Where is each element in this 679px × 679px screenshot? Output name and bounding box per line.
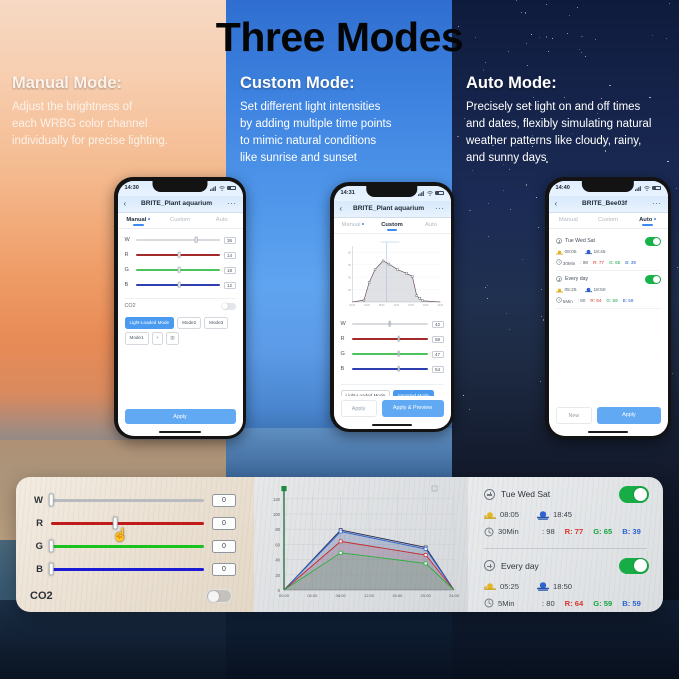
data-point[interactable]: [424, 562, 427, 565]
slider-value[interactable]: 0: [212, 540, 236, 553]
sunset-icon: [537, 510, 549, 520]
slider-track[interactable]: [136, 269, 220, 271]
more-icon[interactable]: ···: [652, 199, 662, 208]
apply-button[interactable]: Apply: [597, 407, 660, 424]
column-line: Precisely set light on and off times: [466, 99, 679, 116]
value-g: G: 59: [606, 298, 617, 303]
slider-track[interactable]: [352, 353, 428, 355]
add-circle-icon[interactable]: [556, 238, 563, 245]
tab-label: Auto: [639, 217, 652, 223]
schedule-days: Every day: [501, 561, 539, 571]
slider-row-b[interactable]: B 54: [341, 362, 444, 377]
status-icons: [418, 191, 444, 196]
tab-label: Custom: [170, 217, 190, 223]
notch: [582, 181, 634, 192]
star: [527, 65, 528, 66]
nav-bar: ‹ BRITE_Plant aquarium ···: [118, 196, 243, 213]
panel-co2-row[interactable]: CO2: [30, 589, 236, 603]
slider-knob[interactable]: [49, 563, 54, 576]
y-tick-label: 40: [275, 558, 280, 563]
value-w: : 80: [578, 298, 586, 303]
phone2-footer: Apply Apply & Preview: [334, 396, 451, 424]
co2-toggle[interactable]: [222, 303, 236, 311]
new-button[interactable]: New: [556, 407, 593, 424]
value-r: R: 64: [565, 599, 584, 608]
mode-chip[interactable]: Mode2: [177, 317, 201, 329]
value-w: : 80: [542, 599, 555, 608]
star: [483, 69, 484, 70]
x-tick-label: 04:00: [307, 593, 318, 598]
tab-dot-icon: [654, 218, 656, 220]
tab-custom[interactable]: Custom: [588, 217, 628, 226]
phone3-footer: New Apply: [549, 403, 668, 431]
ramp-duration: 30Min: [498, 527, 519, 536]
schedule-times: 05:25 18:50: [556, 287, 661, 293]
signal-icon: [210, 186, 217, 191]
tab-label: Manual: [126, 217, 146, 223]
panel-slider-row-b[interactable]: B 0: [30, 558, 236, 581]
more-icon[interactable]: ···: [227, 199, 237, 208]
sunrise-time-wrap: 08:05: [556, 249, 577, 255]
sunset-icon: [585, 249, 592, 255]
star: [464, 118, 465, 119]
column-line: by adding multiple time points: [240, 116, 455, 133]
ramp-wrap: 5Min: [556, 297, 573, 304]
schedule-days: Tue Wed Sat: [565, 238, 595, 244]
mode-chip[interactable]: Mode3: [204, 317, 228, 329]
value-b: B: 39: [622, 527, 641, 536]
star: [540, 381, 541, 382]
star: [538, 227, 539, 228]
battery-icon: [652, 186, 661, 191]
star: [469, 409, 470, 410]
ramp-wrap: 30Min: [484, 527, 532, 537]
x-tick-label: 24:00: [449, 593, 460, 598]
column-line: individually for precise lighting.: [12, 133, 222, 150]
star: [503, 190, 504, 191]
sunrise-time: 05:25: [565, 288, 577, 293]
sunset-icon: [537, 581, 549, 591]
mode-chip[interactable]: Light-Loaded Mode: [125, 317, 175, 329]
add-circle-icon[interactable]: [484, 489, 495, 500]
sunset-time-wrap: 18:50: [537, 581, 572, 591]
star: [577, 7, 578, 8]
add-circle-icon[interactable]: [484, 560, 495, 571]
mode-tabs: Manual Custom Auto: [549, 213, 668, 229]
add-circle-icon[interactable]: [556, 276, 563, 283]
column-line: to mimic natural conditions: [240, 133, 455, 150]
slider-label: B: [30, 564, 43, 575]
x-tick-label: 20:00: [421, 593, 432, 598]
x-tick-label: 08:00: [336, 593, 347, 598]
battery-icon: [227, 186, 236, 191]
schedule-values: 30Min : 98 R: 77 G: 65 B: 39: [484, 527, 649, 537]
tab-dot-icon: [362, 223, 364, 225]
schedule-days-wrap: Tue Wed Sat: [556, 238, 596, 245]
slider-value[interactable]: 18: [224, 267, 236, 274]
slider-knob[interactable]: [397, 336, 400, 342]
status-time: 14:30: [125, 185, 139, 191]
slider-knob[interactable]: [178, 267, 181, 273]
slider-track[interactable]: [136, 284, 220, 286]
slider-label: G: [125, 267, 132, 273]
star: [677, 267, 678, 268]
slider-row-w[interactable]: W 42: [341, 317, 444, 332]
sunrise-time: 05:25: [500, 582, 519, 591]
data-point[interactable]: [411, 275, 413, 277]
status-icons: [210, 186, 236, 191]
device-title: BRITE_Bee03f: [561, 200, 648, 207]
tab-manual[interactable]: Manual: [549, 217, 589, 226]
wifi-icon: [644, 186, 650, 191]
slider-knob[interactable]: [49, 540, 54, 553]
value-w: : 98: [580, 260, 588, 265]
tab-auto[interactable]: Auto: [201, 217, 243, 226]
sunrise-time-wrap: 05:25: [484, 581, 519, 591]
nav-bar: ‹ BRITE_Plant aquarium ···: [334, 201, 451, 218]
sunset-time-wrap: 18:50: [585, 287, 606, 293]
slider-value[interactable]: 54: [432, 366, 444, 373]
star: [521, 12, 522, 13]
battery-icon: [435, 191, 444, 196]
star: [469, 210, 470, 211]
star: [541, 289, 542, 290]
tab-label: Custom: [598, 217, 618, 223]
sunset-time-wrap: 18:45: [537, 510, 572, 520]
column-line: and sunny days: [466, 150, 679, 167]
slider-track[interactable]: [51, 499, 204, 501]
x-tick-label: 12:00: [393, 304, 399, 306]
slider-track[interactable]: [352, 338, 428, 340]
co2-row[interactable]: CO2: [125, 298, 236, 311]
value-g: G: 65: [609, 260, 620, 265]
x-tick-label: 24:00: [437, 304, 443, 306]
schedule-toggle[interactable]: [619, 558, 649, 575]
x-tick-label: 00:00: [279, 593, 290, 598]
value-b: B: 39: [625, 260, 636, 265]
tab-custom[interactable]: Custom: [159, 217, 201, 226]
more-icon[interactable]: ···: [435, 204, 445, 213]
panel-sliders: W 0 R 0 ☝ G 0 B 0 CO2: [16, 477, 254, 612]
slider-track[interactable]: [51, 545, 204, 547]
y-tick-label: 100: [273, 512, 281, 517]
star: [485, 287, 486, 288]
data-point[interactable]: [382, 259, 384, 261]
value-b: B: 59: [623, 298, 634, 303]
slider-row-g[interactable]: G 18: [125, 263, 236, 278]
slider-label: W: [125, 237, 132, 243]
slider-label: G: [30, 541, 43, 552]
star: [472, 170, 473, 171]
y-tick-label: 80: [275, 527, 280, 532]
star: [509, 169, 510, 170]
schedule-times: 08:05 18:45: [484, 510, 649, 520]
data-point[interactable]: [424, 554, 427, 557]
status-time: 14:40: [556, 185, 570, 191]
y-tick-label: 20: [348, 288, 351, 291]
star: [672, 373, 673, 374]
slider-row-r[interactable]: R 14: [125, 248, 236, 263]
wifi-icon: [219, 186, 225, 191]
data-point[interactable]: [339, 530, 342, 533]
slider-row-g[interactable]: G 47: [341, 347, 444, 362]
y-tick-label: 60: [275, 542, 280, 547]
x-tick-label: 04:00: [364, 304, 370, 306]
expand-icon[interactable]: [432, 486, 437, 491]
star: [541, 316, 542, 317]
panel-slider-row-r[interactable]: R 0 ☝: [30, 512, 236, 535]
data-point[interactable]: [339, 551, 342, 554]
panel-schedule-row[interactable]: Tue Wed Sat 08:05: [468, 477, 663, 541]
device-title: BRITE_Plant aquarium: [130, 200, 223, 207]
column-line: Adjust the brightness of: [12, 99, 222, 116]
slider-track[interactable]: [136, 254, 220, 256]
phone3-body: Tue Wed Sat 08:05: [549, 229, 668, 404]
slider-label: W: [30, 495, 43, 506]
slider-track[interactable]: [51, 522, 204, 524]
clock-icon: [556, 297, 562, 303]
column-auto-mode: Auto Mode: Precisely set light on and of…: [466, 74, 679, 167]
schedule-header: Tue Wed Sat: [484, 486, 649, 503]
star: [506, 313, 507, 314]
column-manual-mode: Manual Mode: Adjust the brightness of ea…: [12, 74, 222, 150]
data-point[interactable]: [339, 540, 342, 543]
x-tick-label: 00:00: [349, 304, 355, 306]
ramp-wrap: 30Min: [556, 259, 576, 266]
column-heading: Auto Mode:: [466, 74, 679, 93]
sunrise-time-wrap: 05:25: [556, 287, 577, 293]
slider-value[interactable]: 0: [212, 494, 236, 507]
status-time: 14:31: [341, 190, 355, 196]
data-point[interactable]: [374, 268, 376, 270]
ramp-duration: 30Min: [563, 261, 576, 266]
tab-dot-icon: [148, 218, 150, 220]
column-line: like sunrise and sunset: [240, 150, 455, 167]
mode-chip-list: Light-Loaded Mode Mode2 Mode3 Mode1 + ▥: [125, 317, 236, 345]
device-title: BRITE_Plant aquarium: [346, 205, 431, 212]
sunrise-icon: [556, 249, 563, 255]
value-g: G: 65: [593, 527, 612, 536]
panel-schedule-row[interactable]: Every day 05:25: [468, 549, 663, 613]
sunset-time: 18:45: [594, 250, 606, 255]
schedule-times: 08:05 18:45: [556, 249, 661, 255]
star: [546, 4, 547, 5]
signal-icon: [418, 191, 425, 196]
slider-track[interactable]: [352, 323, 428, 325]
delete-mode-icon[interactable]: ▥: [166, 332, 179, 345]
phone1-screen: 14:30 ‹ BRITE_Plant aquarium ···: [118, 181, 243, 436]
tab-custom[interactable]: Custom: [373, 222, 412, 231]
mode-chip-list: Light-Loaded Mode Imported Mode Imported…: [341, 384, 444, 397]
tab-manual[interactable]: Manual: [118, 217, 160, 226]
custom-curve-chart[interactable]: 2040608000:0004:0008:0012:0016:0020:0024…: [341, 240, 444, 314]
y-tick-label: 80: [348, 251, 351, 254]
phone1-body: W 36 R 14 G 18 B 12 CO2: [118, 229, 243, 406]
sunset-time: 18:45: [553, 510, 572, 519]
apply-preview-button[interactable]: Apply & Preview: [382, 400, 444, 417]
value-w: : 98: [542, 527, 555, 536]
panel-slider-row-g[interactable]: G 0: [30, 535, 236, 558]
slider-track[interactable]: [352, 368, 428, 370]
column-line: each WRBG color channel: [12, 116, 222, 133]
slider-label: R: [125, 252, 132, 258]
clock-icon: [556, 259, 562, 265]
light-schedule-chart[interactable]: 20406080100120000:0004:0008:0012:0016:00…: [254, 477, 468, 612]
tab-manual[interactable]: Manual: [334, 222, 373, 231]
slider-value[interactable]: 36: [224, 237, 236, 244]
star: [485, 62, 486, 63]
slider-label: B: [341, 366, 348, 372]
notch: [153, 181, 208, 192]
star: [509, 329, 510, 330]
sunrise-time: 08:05: [565, 250, 577, 255]
mode-chip[interactable]: Light-Loaded Mode: [341, 390, 391, 397]
phone2-body: 2040608000:0004:0008:0012:0016:0020:0024…: [334, 234, 451, 397]
back-icon[interactable]: ‹: [124, 199, 127, 208]
home-indicator: [159, 431, 202, 433]
co2-label: CO2: [125, 303, 136, 309]
slider-knob[interactable]: [388, 321, 391, 327]
slider-value[interactable]: 42: [432, 321, 444, 328]
notch: [366, 186, 417, 197]
slider-knob[interactable]: [397, 351, 400, 357]
slider-value[interactable]: 0: [212, 517, 236, 530]
tab-label: Manual: [342, 222, 361, 228]
schedule-row[interactable]: Tue Wed Sat 08:05: [556, 233, 661, 271]
slider-knob[interactable]: [195, 237, 198, 243]
phone3-screen: 14:40 ‹ BRITE_Bee03f ···: [549, 181, 668, 436]
page-title: Three Modes: [0, 14, 679, 61]
slider-knob[interactable]: [49, 494, 54, 507]
ramp-wrap: 5Min: [484, 598, 532, 608]
apply-button[interactable]: Apply: [125, 409, 236, 424]
x-tick-label: 12:00: [364, 593, 375, 598]
data-point[interactable]: [415, 294, 417, 296]
sunrise-icon: [556, 287, 563, 293]
slider-row-r[interactable]: R 58: [341, 332, 444, 347]
axis-marker: [281, 486, 286, 491]
slider-value[interactable]: 47: [432, 351, 444, 358]
phone1-footer: Apply: [118, 405, 243, 431]
co2-label: CO2: [30, 590, 53, 602]
panel-schedules: Tue Wed Sat 08:05: [468, 477, 663, 612]
column-line: Set different light intensities: [240, 99, 455, 116]
column-line: weather patterns like cloudy, rainy,: [466, 133, 679, 150]
tab-label: Custom: [381, 222, 403, 228]
panel-slider-row-w[interactable]: W 0: [30, 489, 236, 512]
value-b: B: 59: [622, 599, 641, 608]
y-tick-label: 120: [273, 497, 281, 502]
tab-auto[interactable]: Auto: [628, 217, 668, 226]
column-heading: Manual Mode:: [12, 74, 222, 93]
y-tick-label: 40: [348, 276, 351, 279]
slider-row-w[interactable]: W 36: [125, 233, 236, 248]
co2-toggle[interactable]: [206, 589, 232, 603]
x-tick-label: 20:00: [422, 304, 428, 306]
value-r: R: 77: [593, 260, 604, 265]
detail-panel: W 0 R 0 ☝ G 0 B 0 CO2: [16, 477, 663, 612]
wifi-icon: [427, 191, 433, 196]
slider-value[interactable]: 14: [224, 252, 236, 259]
slider-knob[interactable]: [178, 282, 181, 288]
sunrise-icon: [484, 581, 496, 591]
mode-chip[interactable]: Imported Mode: [393, 390, 434, 397]
star: [463, 395, 464, 396]
column-line: and dates, flexibly simulating natural: [466, 116, 679, 133]
schedule-toggle[interactable]: [645, 237, 661, 246]
phone2-screen: 14:31 ‹ BRITE_Plant aquarium ···: [334, 186, 451, 429]
nav-bar: ‹ BRITE_Bee03f ···: [549, 196, 668, 213]
y-tick-label: 20: [275, 573, 280, 578]
phone-auto-mode: 14:40 ‹ BRITE_Bee03f ···: [545, 177, 671, 439]
value-r: R: 64: [590, 298, 601, 303]
clock-icon: [484, 527, 494, 537]
slider-value[interactable]: 12: [224, 282, 236, 289]
schedule-days: Tue Wed Sat: [501, 489, 550, 499]
data-point[interactable]: [421, 299, 423, 301]
schedule-row[interactable]: Every day 05:25: [556, 271, 661, 309]
schedule-header: Tue Wed Sat: [556, 237, 661, 246]
slider-track[interactable]: [136, 239, 220, 241]
sunrise-time: 08:05: [500, 510, 519, 519]
back-icon[interactable]: ‹: [340, 204, 343, 213]
schedule-header: Every day: [556, 275, 661, 284]
data-point[interactable]: [363, 299, 365, 301]
star: [526, 184, 528, 186]
slider-knob[interactable]: [113, 517, 118, 530]
slider-value[interactable]: 0: [212, 563, 236, 576]
schedule-toggle[interactable]: [645, 275, 661, 284]
data-point[interactable]: [396, 268, 398, 270]
value-r: R: 77: [565, 527, 584, 536]
tab-label: Auto: [425, 222, 437, 228]
star: [487, 285, 488, 286]
slider-knob[interactable]: [178, 252, 181, 258]
schedule-days-wrap: Every day: [556, 276, 589, 283]
tab-label: Auto: [216, 217, 228, 223]
sunset-time: 18:50: [594, 288, 606, 293]
slider-value[interactable]: 58: [432, 336, 444, 343]
data-point[interactable]: [387, 263, 389, 265]
panel-chart: 20406080100120000:0004:0008:0012:0016:00…: [254, 477, 468, 612]
slider-row-b[interactable]: B 12: [125, 278, 236, 293]
mode-chip[interactable]: Mode1: [125, 332, 149, 345]
schedule-values: 30Min : 98 R: 77 G: 65 B: 39: [556, 259, 661, 266]
apply-button[interactable]: Apply: [341, 400, 377, 417]
slider-label: W: [341, 321, 348, 327]
schedule-toggle[interactable]: [619, 486, 649, 503]
data-point[interactable]: [418, 297, 420, 299]
schedule-values: 5Min : 80 R: 64 G: 59 B: 59: [556, 297, 661, 304]
star: [488, 203, 489, 204]
phone-custom-mode: 14:31 ‹ BRITE_Plant aquarium ···: [330, 182, 454, 432]
schedule-times: 05:25 18:50: [484, 581, 649, 591]
home-indicator: [588, 431, 628, 433]
add-mode-icon[interactable]: +: [152, 332, 163, 345]
value-g: G: 59: [593, 599, 612, 608]
back-icon[interactable]: ‹: [555, 199, 558, 208]
tab-auto[interactable]: Auto: [412, 222, 451, 231]
x-tick-label: 16:00: [408, 304, 414, 306]
custom-curve-svg: 2040608000:0004:0008:0012:0016:0020:0024…: [341, 240, 444, 314]
star: [516, 0, 517, 1]
slider-knob[interactable]: [397, 366, 400, 372]
slider-track[interactable]: [51, 568, 204, 570]
slider-label: R: [341, 336, 348, 342]
data-point[interactable]: [368, 281, 370, 283]
data-point[interactable]: [405, 272, 407, 274]
data-point[interactable]: [424, 547, 427, 550]
